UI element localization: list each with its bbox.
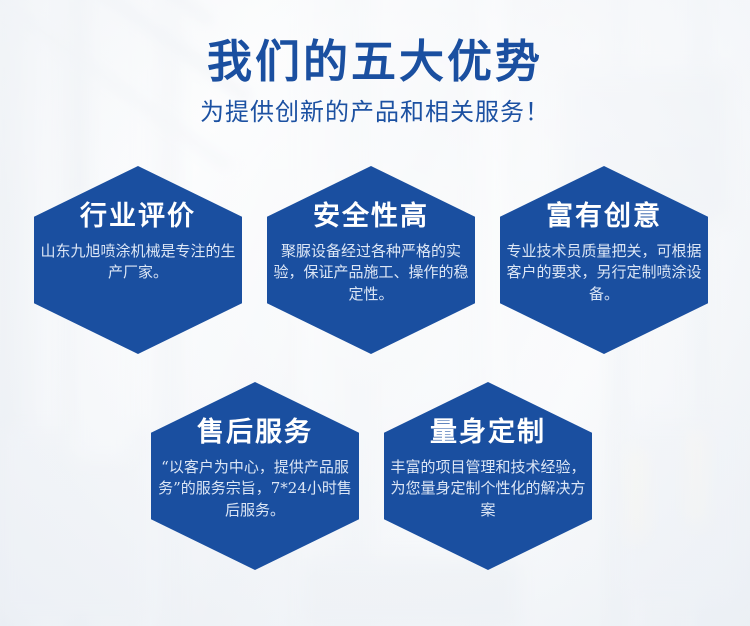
advantage-body: 专业技术员质量把关，可根据客户的要求，另行定制喷涂设备。 xyxy=(505,241,703,306)
advantage-title: 量身定制 xyxy=(430,418,546,448)
page-title: 我们的五大优势 xyxy=(0,38,750,85)
advantage-body: 丰富的项目管理和技术经验，为您量身定制个性化的解决方案 xyxy=(388,457,588,522)
advantage-title: 安全性高 xyxy=(313,202,429,232)
advantage-title: 售后服务 xyxy=(197,418,313,448)
advantage-title: 富有创意 xyxy=(546,202,662,232)
page-subtitle: 为提供创新的产品和相关服务！ xyxy=(0,99,750,125)
advantage-body: “以客户为中心，提供产品服务”的服务宗旨，7*24小时售后服务。 xyxy=(155,457,355,522)
advantage-title: 行业评价 xyxy=(80,202,196,232)
advantage-body: 山东九旭喷涂机械是专注的生产厂家。 xyxy=(39,241,237,285)
advantages-banner: 我们的五大优势 为提供创新的产品和相关服务！ 行业评价 山东九旭喷涂机械是专注的… xyxy=(0,0,750,626)
advantage-body: 聚脲设备经过各种严格的实验，保证产品施工、操作的稳定性。 xyxy=(272,241,470,306)
banner-heading-group: 我们的五大优势 为提供创新的产品和相关服务！ xyxy=(0,38,750,126)
